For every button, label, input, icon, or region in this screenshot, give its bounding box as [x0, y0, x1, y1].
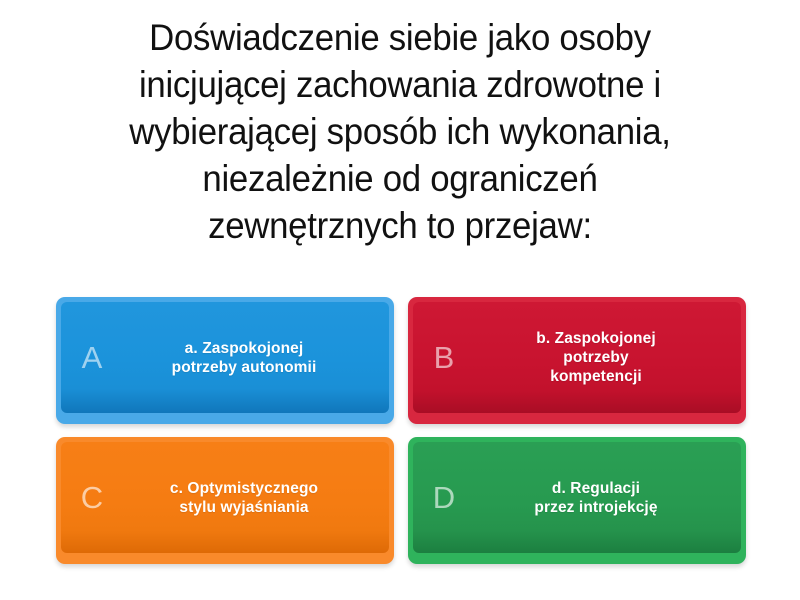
question-text: Doświadczenie siebie jako osoby inicjują…	[129, 14, 670, 249]
answer-option-b-surface: B b. Zaspokojonej potrzeby kompetencji	[413, 302, 741, 413]
answer-option-d-surface: D d. Regulacji przez introjekcję	[413, 442, 741, 553]
answer-letter-b: B	[413, 342, 475, 373]
answer-option-c[interactable]: C c. Optymistycznego stylu wyjaśniania	[56, 437, 394, 564]
answer-option-c-surface: C c. Optymistycznego stylu wyjaśniania	[61, 442, 389, 553]
answer-option-a-surface: A a. Zaspokojonej potrzeby autonomii	[61, 302, 389, 413]
answer-label-c: c. Optymistycznego stylu wyjaśniania	[123, 479, 389, 517]
answer-label-d: d. Regulacji przez introjekcję	[475, 479, 741, 517]
answer-option-a[interactable]: A a. Zaspokojonej potrzeby autonomii	[56, 297, 394, 424]
answer-option-b[interactable]: B b. Zaspokojonej potrzeby kompetencji	[408, 297, 746, 424]
answer-letter-c: C	[61, 482, 123, 513]
answers-grid: A a. Zaspokojonej potrzeby autonomii B b…	[56, 297, 746, 564]
answer-label-b: b. Zaspokojonej potrzeby kompetencji	[475, 329, 741, 386]
answer-option-d[interactable]: D d. Regulacji przez introjekcję	[408, 437, 746, 564]
answer-letter-d: D	[413, 482, 475, 513]
answer-label-a: a. Zaspokojonej potrzeby autonomii	[123, 339, 389, 377]
question-area: Doświadczenie siebie jako osoby inicjują…	[20, 0, 780, 249]
answer-letter-a: A	[61, 342, 123, 373]
quiz-screen: Doświadczenie siebie jako osoby inicjują…	[0, 0, 800, 600]
